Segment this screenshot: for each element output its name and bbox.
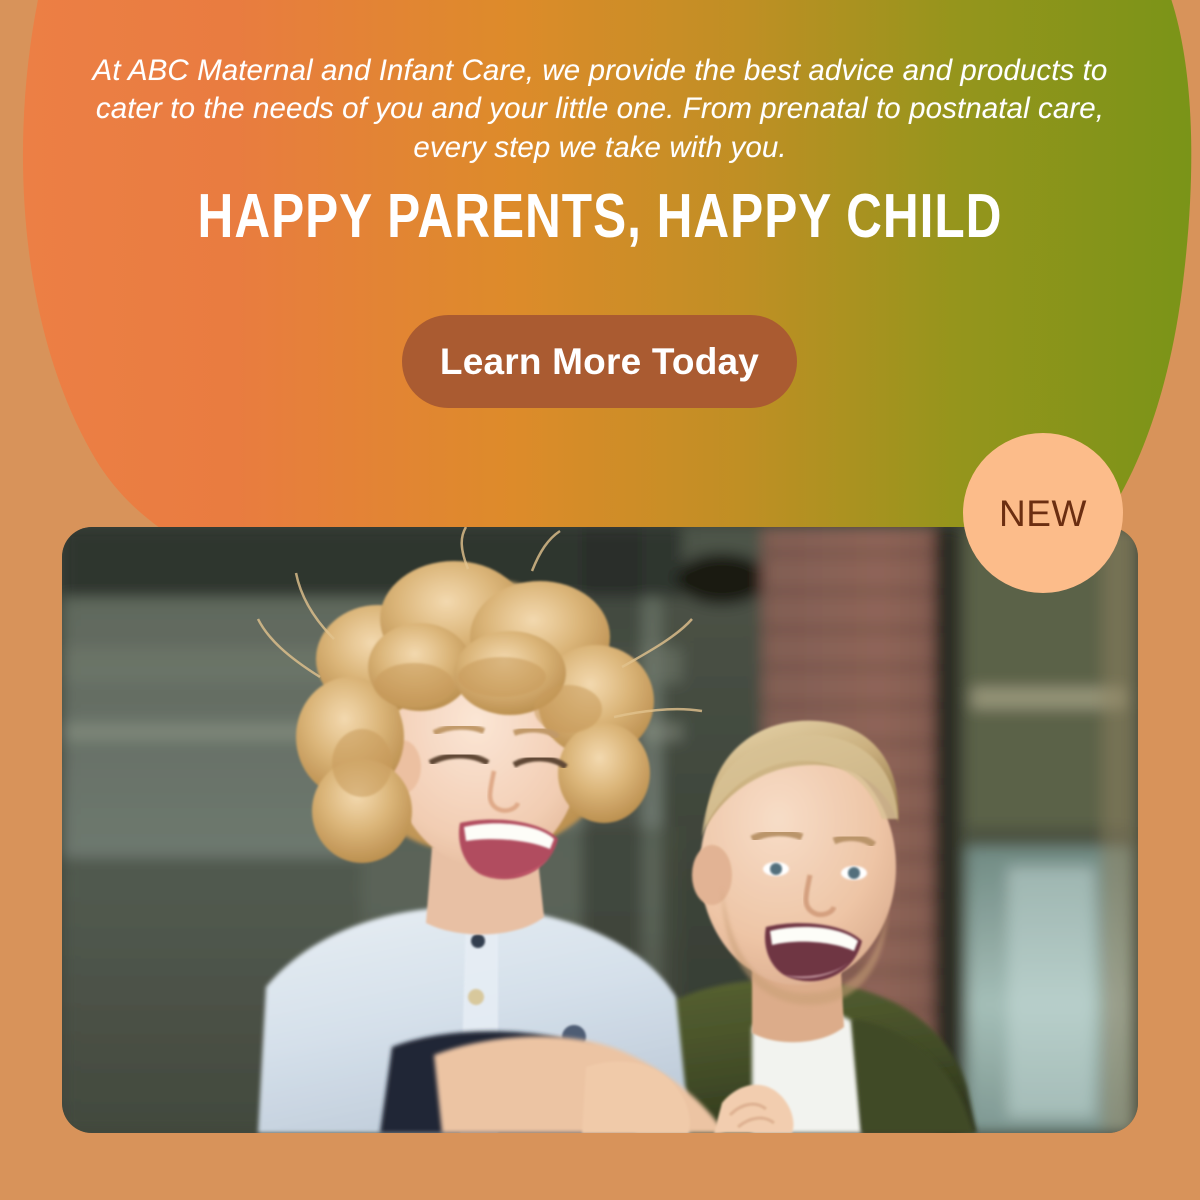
poster-canvas: At ABC Maternal and Infant Care, we prov… — [0, 0, 1200, 1200]
hero-photo-illustration — [62, 527, 1138, 1133]
body-copy-line-2: cater to the needs of you and your littl… — [50, 90, 1150, 128]
body-copy: At ABC Maternal and Infant Care, we prov… — [50, 52, 1150, 167]
body-copy-line-1: At ABC Maternal and Infant Care, we prov… — [50, 52, 1150, 90]
status-badge: NEW — [963, 433, 1123, 593]
learn-more-button[interactable]: Learn More Today — [402, 315, 797, 408]
learn-more-button-label: Learn More Today — [440, 343, 759, 380]
page-title: HAPPY PARENTS, HAPPY CHILD — [120, 186, 1080, 248]
hero-photo — [62, 527, 1138, 1133]
body-copy-line-3: every step we take with you. — [50, 129, 1150, 167]
status-badge-label: NEW — [999, 495, 1087, 532]
